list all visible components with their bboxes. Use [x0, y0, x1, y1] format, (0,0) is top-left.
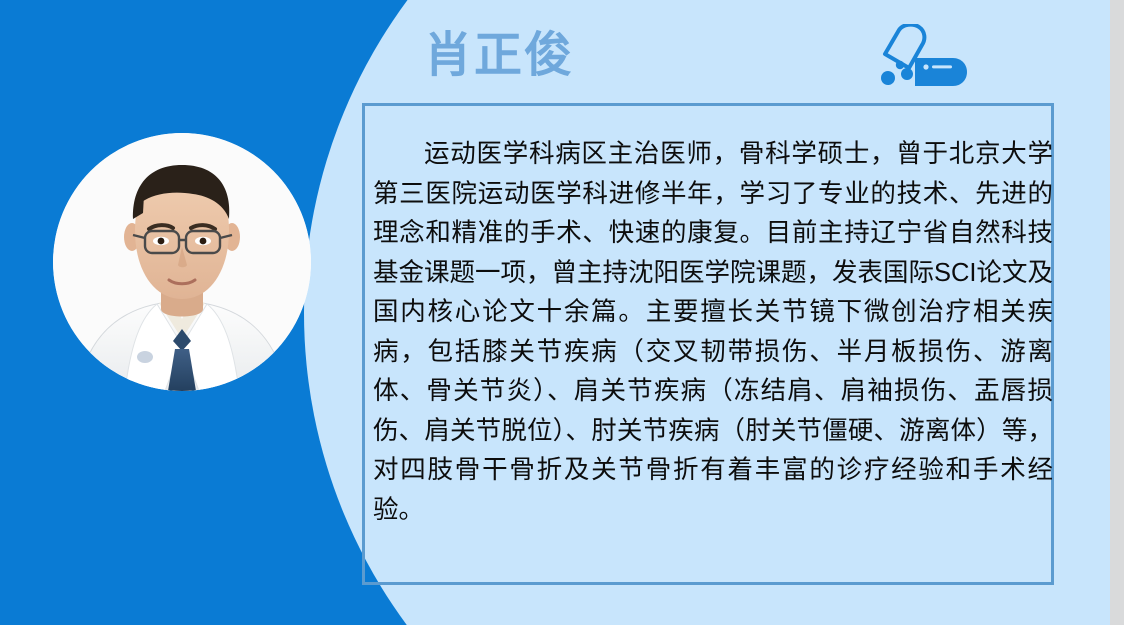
right-edge-strip: [1110, 0, 1124, 625]
bio-text-box: 运动医学科病区主治医师，骨科学硕士，曾于北京大学第三医院运动医学科进修半年，学习…: [362, 103, 1054, 585]
doctor-profile-slide: 肖正俊 运动医学科病区主治医师，骨科学硕士，曾于北京大学第三医院运动医学科进修半…: [0, 0, 1124, 625]
portrait-photo: [53, 133, 311, 391]
doctor-portrait-avatar: [53, 133, 311, 391]
capsule-pill-icon: [869, 24, 973, 88]
bio-paragraph: 运动医学科病区主治医师，骨科学硕士，曾于北京大学第三医院运动医学科进修半年，学习…: [373, 135, 1053, 530]
doctor-name-title: 肖正俊: [424, 28, 574, 85]
